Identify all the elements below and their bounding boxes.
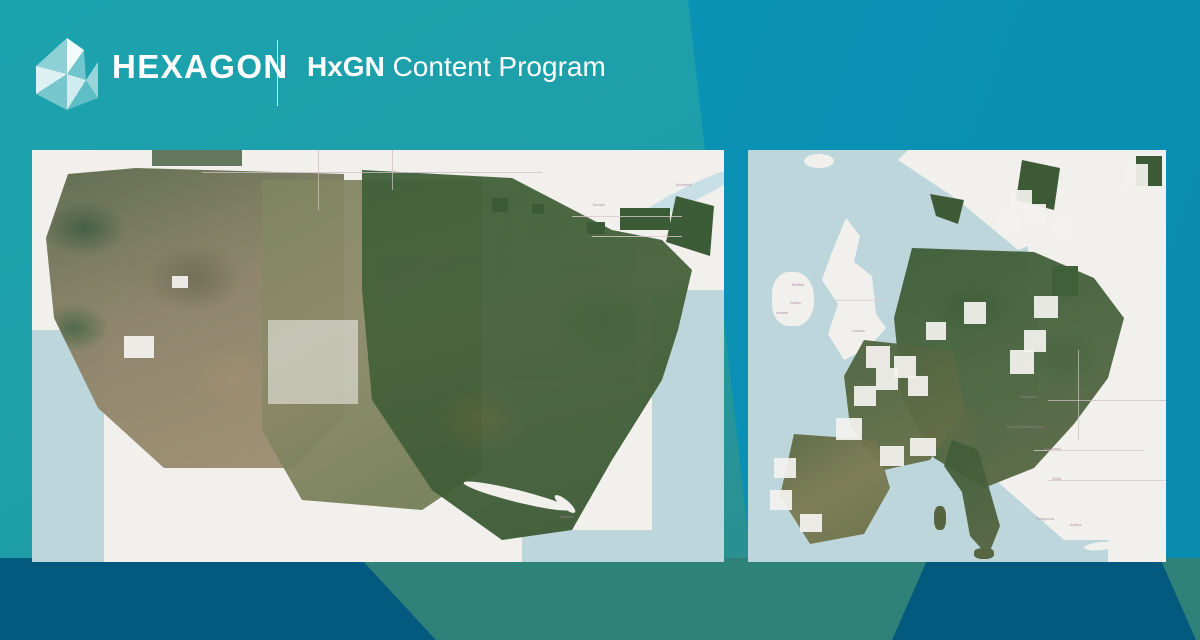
eu-map-label: Athina (1070, 522, 1081, 527)
europe-coverage-map[interactable]: Belfast Dublin London Budapest Sofia Buc… (748, 150, 1166, 562)
eu-map-label: Sofia (1052, 476, 1061, 481)
eu-coverage-gap (964, 302, 986, 324)
tagline-light: Content Program (393, 51, 606, 82)
us-road-2 (592, 236, 682, 237)
eu-land-sicily (974, 548, 994, 559)
eu-border-1 (1048, 400, 1166, 401)
eu-coverage-gap (926, 322, 946, 340)
promo-banner: HEXAGON HxGN Content Program (0, 0, 1200, 640)
eu-coverage-gap (880, 446, 904, 466)
united-states-coverage-map[interactable]: Toronto Montreal Chihuahua Hermosillo Mo… (32, 150, 724, 562)
eu-coverage-gap (770, 490, 792, 510)
eu-coverage-gap (1010, 350, 1034, 374)
eu-road-3 (832, 300, 882, 301)
us-coverage-block-f (152, 150, 242, 166)
eu-coverage-gap (908, 376, 928, 396)
eu-coverage-gap (910, 438, 936, 456)
eu-coverage-gap (1010, 190, 1032, 208)
us-coverage-block-b (587, 222, 605, 234)
eu-land-turkey (1108, 510, 1166, 562)
us-coverage-gap-nevada (124, 336, 154, 358)
eu-coverage-gap (774, 458, 796, 478)
eu-coverage-gap (894, 356, 916, 378)
banner-header: HEXAGON HxGN Content Program (0, 0, 1200, 148)
eu-coverage-gap (1126, 164, 1148, 186)
eu-map-label: Podgorica (1036, 516, 1054, 521)
tagline-strong: HxGN (307, 51, 385, 82)
eu-map-label: London (852, 328, 865, 333)
eu-land-sardinia (934, 506, 946, 530)
us-coverage-gap-wyoming (172, 276, 188, 288)
us-coverage-block-c (492, 198, 508, 212)
eu-coverage-gap (854, 386, 876, 406)
eu-coverage-gap (1024, 330, 1046, 352)
eu-map-label: Bucuresti (1044, 446, 1061, 451)
us-map-label: Montreal (676, 182, 692, 187)
eu-map-label: Bosna i Hercegovina (1006, 424, 1043, 429)
us-border-state-v1 (318, 150, 319, 210)
eu-border-2 (1078, 350, 1079, 440)
us-coverage-block-d (532, 204, 544, 214)
eu-coverage-baltic-block (1052, 266, 1078, 296)
eu-land-iceland (804, 154, 834, 168)
us-border-state-v2 (392, 150, 393, 190)
eu-coverage-gap (800, 514, 822, 532)
eu-coverage-gap (1034, 296, 1058, 318)
eu-coverage-gap (1052, 218, 1072, 236)
us-coverage-block-a (620, 208, 670, 230)
eu-coverage-gap (866, 346, 890, 368)
eu-land-ireland (772, 272, 814, 326)
us-border-north (202, 172, 542, 173)
us-map-label: Nassau (560, 514, 574, 519)
eu-map-label: Dublin (790, 300, 801, 305)
eu-map-label: Ireland (776, 310, 788, 315)
brand-name: HEXAGON (112, 50, 289, 83)
hexagon-logo-icon (34, 36, 100, 112)
eu-coverage-gap (998, 212, 1020, 234)
eu-road-2 (1048, 480, 1166, 481)
us-map-label: Toronto (592, 202, 605, 207)
eu-map-label: Belfast (792, 282, 804, 287)
us-road-1 (572, 216, 682, 217)
eu-coverage-gap (836, 418, 862, 440)
program-tagline: HxGN Content Program (307, 53, 606, 81)
us-coverage-gap-texas (268, 320, 358, 404)
header-divider (277, 40, 278, 106)
eu-map-label: Budapest (1020, 394, 1037, 399)
